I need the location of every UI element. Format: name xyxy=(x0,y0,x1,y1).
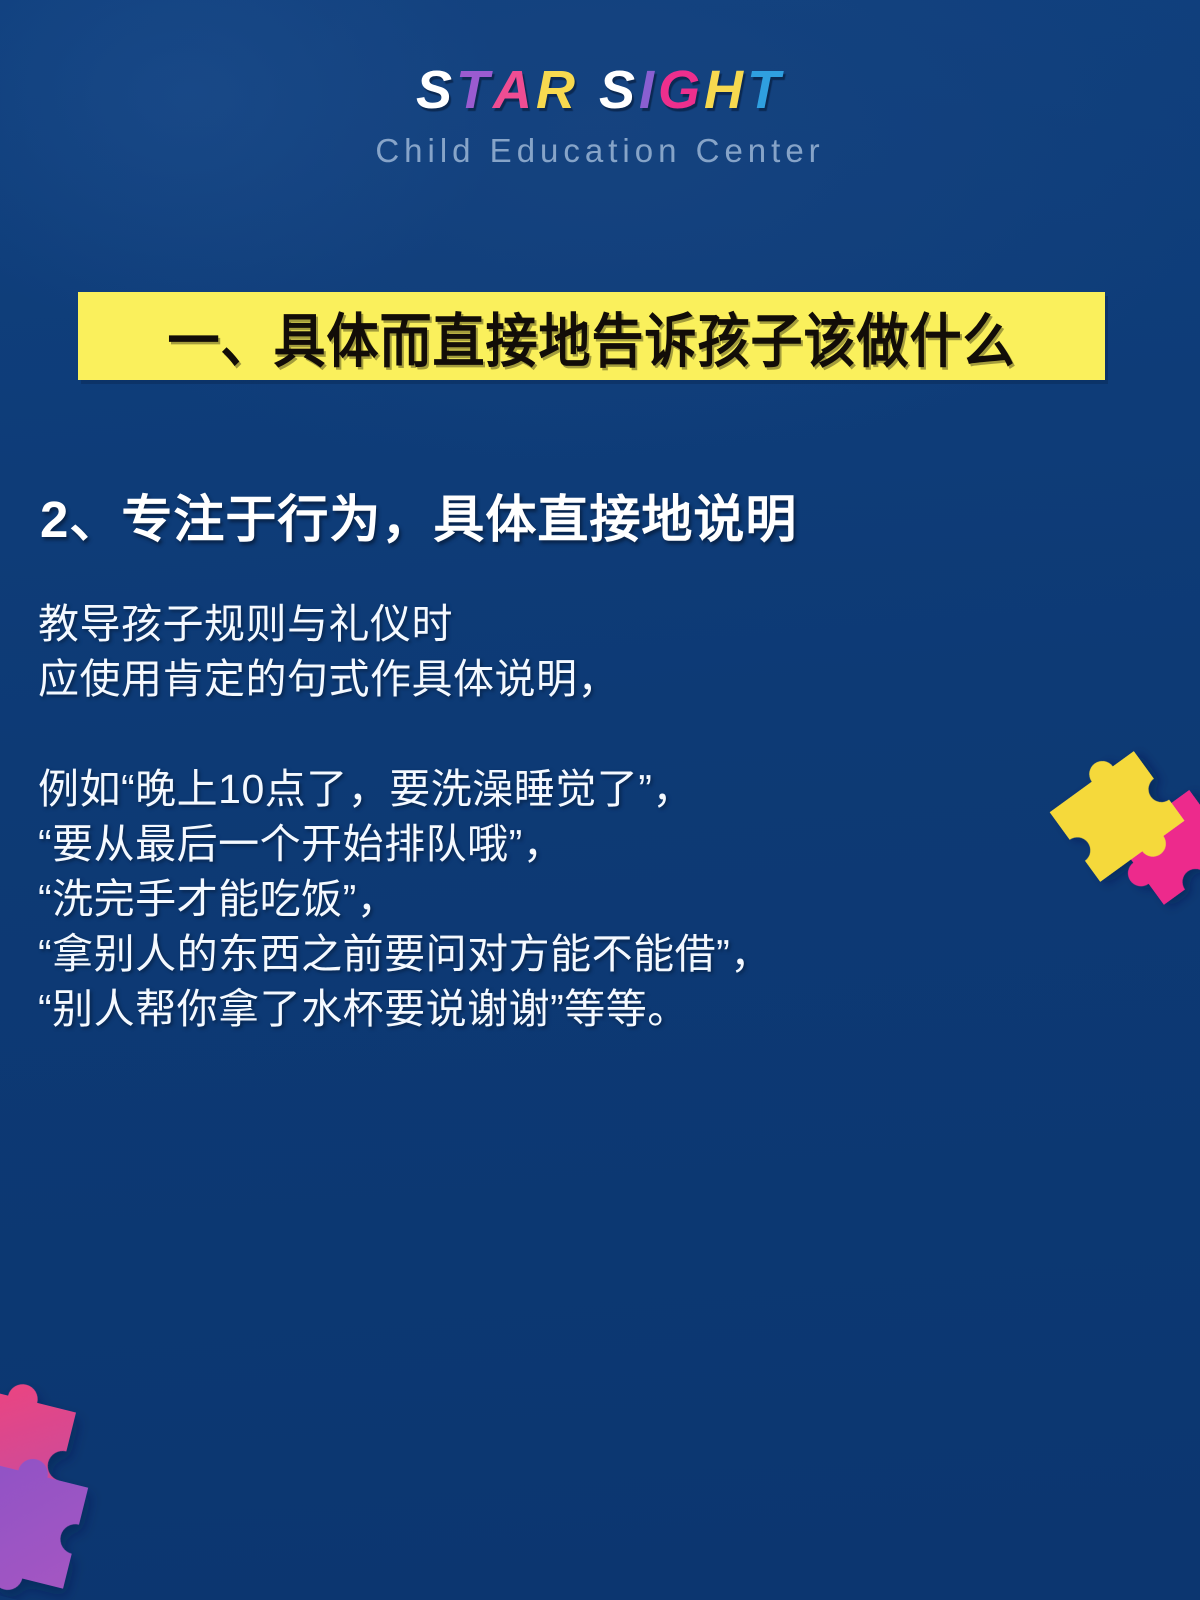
brand-name-letter-t-1: T xyxy=(456,62,493,119)
body-line-spacer xyxy=(38,707,1098,762)
body-copy: 教导孩子规则与礼仪时应使用肯定的句式作具体说明， 例如“晚上10点了，要洗澡睡觉… xyxy=(38,597,1098,1037)
poster-canvas: STARSIGHT Child Education Center 一、具体而直接… xyxy=(0,0,1200,1600)
body-line: “洗完手才能吃饭”， xyxy=(38,872,1098,927)
brand-name-letter-i-6: I xyxy=(639,62,658,119)
brand-tagline: Child Education Center xyxy=(0,133,1200,169)
brand-name-letter-t-9: T xyxy=(747,62,784,119)
headline-banner-text: 一、具体而直接地告诉孩子该做什么 xyxy=(167,294,1015,378)
body-line: 例如“晚上10点了，要洗澡睡觉了”， xyxy=(38,762,1098,817)
body-line: 教导孩子规则与礼仪时 xyxy=(38,597,1098,652)
brand-name-letter-g-7: G xyxy=(658,62,704,119)
brand-name-letter-h-8: H xyxy=(704,62,747,119)
puzzle-piece-pair-pink-purple xyxy=(0,1351,183,1600)
brand-name-letter-a-2: A xyxy=(493,62,536,119)
brand-name-letter-r-3: R xyxy=(536,62,579,119)
brand-name-letter-s-0: S xyxy=(416,62,456,119)
puzzle-piece-magenta xyxy=(1108,782,1200,912)
brand-name: STARSIGHT xyxy=(416,62,784,119)
headline-banner: 一、具体而直接地告诉孩子该做什么 xyxy=(78,292,1105,380)
body-line: “要从最后一个开始排队哦”， xyxy=(38,817,1098,872)
puzzle-piece-purple xyxy=(0,1446,92,1600)
brand-logo: STARSIGHT Child Education Center xyxy=(0,62,1200,169)
body-line: “拿别人的东西之前要问对方能不能借”， xyxy=(38,927,1098,982)
puzzle-piece-pink xyxy=(0,1371,80,1530)
body-line: 应使用肯定的句式作具体说明， xyxy=(38,652,1098,707)
brand-name-letter-s-5: S xyxy=(599,62,639,119)
body-line: “别人帮你拿了水杯要说谢谢”等等。 xyxy=(38,982,1098,1037)
section-subheading: 2、专注于行为，具体直接地说明 xyxy=(40,478,797,552)
